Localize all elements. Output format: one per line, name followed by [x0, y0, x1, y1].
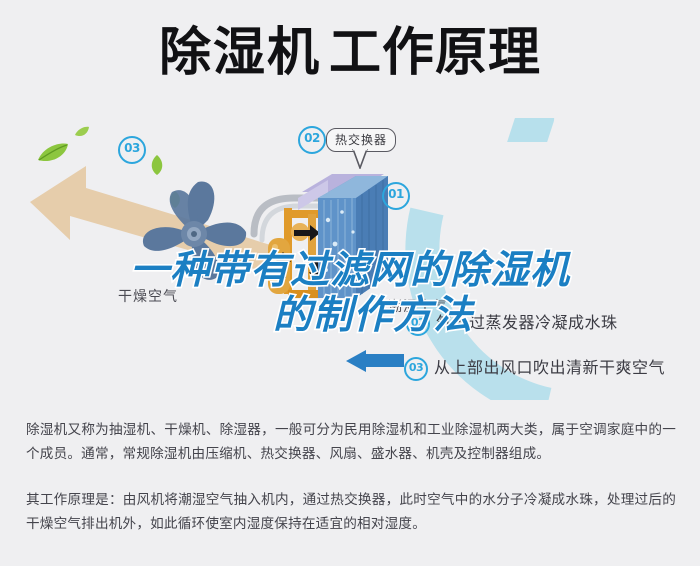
- step-text-02: 气经过蒸发器冷凝成水珠: [436, 313, 618, 332]
- leaf-icon: [74, 126, 90, 139]
- badge-02-heat-exchanger: 02: [298, 126, 326, 154]
- title-primary: 除湿机: [159, 23, 321, 83]
- body-copy: 除湿机又称为抽湿机、干燥机、除湿器，一般可分为民用除湿机和工业除湿机两大类，属于…: [26, 418, 676, 542]
- inlet-arrow-icon: [344, 350, 406, 372]
- step-line-02: 02气经过蒸发器冷凝成水珠: [406, 309, 618, 336]
- page-title: 除湿机工作原理: [0, 22, 700, 84]
- paragraph-definition: 除湿机又称为抽湿机、干燥机、除湿器，一般可分为民用除湿机和工业除湿机两大类，属于…: [26, 418, 676, 466]
- illustration-stage: 水箱 03 干燥空气 02 热交换器 01 潮湿空气 02气经过蒸发器冷凝成水珠…: [0, 118, 700, 400]
- step-badge-03: 03: [404, 357, 428, 381]
- label-dry-air: 干燥空气: [118, 286, 178, 306]
- step-line-03: 03从上部出风口吹出清新干爽空气: [404, 354, 665, 381]
- heat-exchanger-icon: [298, 158, 390, 308]
- badge-01-humid-air: 01: [382, 182, 410, 210]
- leaf-icon: [36, 142, 70, 166]
- leaf-icon: [148, 154, 166, 176]
- paragraph-principle: 其工作原理是：由风机将潮湿空气抽入机内，通过热交换器，此时空气中的水分子冷凝成水…: [26, 488, 676, 536]
- infographic-page: 除湿机工作原理: [0, 0, 700, 566]
- badge-03-dry-air: 03: [118, 136, 146, 164]
- title-secondary: 工作原理: [329, 23, 541, 83]
- title-text: 除湿机工作原理: [159, 22, 541, 84]
- step-text-03: 从上部出风口吹出清新干爽空气: [434, 358, 665, 377]
- step-badge-02: 02: [406, 312, 430, 336]
- fan-icon: [128, 176, 260, 292]
- bubble-tail-icon: [352, 149, 368, 169]
